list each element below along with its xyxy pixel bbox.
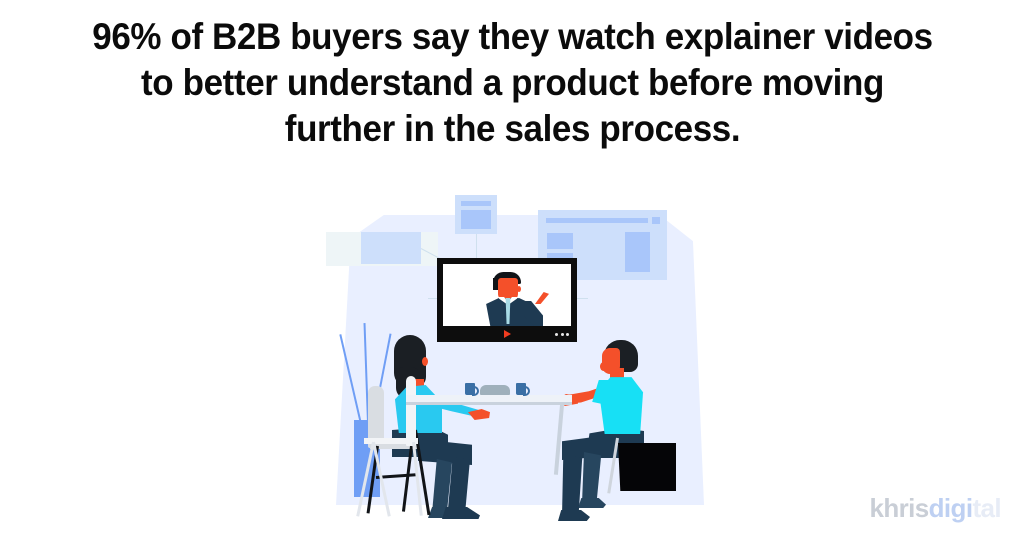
table-edge xyxy=(406,402,572,405)
meeting-table xyxy=(406,395,572,402)
headline-line-3: further in the sales process. xyxy=(28,106,997,152)
logo-part-digi: digi xyxy=(929,493,973,523)
ui-card-blank xyxy=(361,232,421,264)
man-shoe-far xyxy=(578,498,606,508)
card-content-block xyxy=(461,210,491,229)
three-dots-icon[interactable] xyxy=(555,333,569,336)
woman-ear xyxy=(422,357,428,366)
dot xyxy=(555,333,558,336)
connector-line-mid xyxy=(476,234,477,260)
man-ear xyxy=(600,362,607,371)
connector-tick-right xyxy=(576,298,588,299)
man-shoe xyxy=(558,510,590,521)
illustration xyxy=(320,180,720,520)
closed-laptop xyxy=(480,385,510,395)
presenter-hand xyxy=(535,292,549,304)
play-icon[interactable] xyxy=(504,330,511,338)
presenter-ear xyxy=(517,286,521,292)
presenter-face xyxy=(498,278,518,300)
logo-part-tal: tal xyxy=(972,493,1001,523)
card-title-bar xyxy=(461,201,491,206)
ui-card-small xyxy=(455,195,497,234)
browser-block-a xyxy=(547,233,573,249)
chair-back-right xyxy=(406,376,416,446)
dot xyxy=(561,333,564,336)
headline-line-2: to better understand a product before mo… xyxy=(28,60,997,106)
laptop-bag xyxy=(618,443,676,491)
brand-logo[interactable]: khrisdigital xyxy=(869,494,1001,522)
page-title: 96% of B2B buyers say they watch explain… xyxy=(28,14,997,152)
dot xyxy=(566,333,569,336)
browser-address-bar xyxy=(546,218,648,223)
headline-line-1: 96% of B2B buyers say they watch explain… xyxy=(28,14,997,60)
browser-menu-icon xyxy=(652,217,660,224)
poster-canvas: 96% of B2B buyers say they watch explain… xyxy=(0,0,1025,537)
coffee-mug xyxy=(465,383,475,395)
video-screen xyxy=(443,264,571,326)
woman-viewer xyxy=(384,335,494,520)
logo-part-khris: khris xyxy=(869,493,928,523)
woman-shoe xyxy=(442,507,480,519)
man-viewer xyxy=(558,340,678,522)
browser-block-c xyxy=(625,232,650,272)
video-player[interactable] xyxy=(437,258,577,342)
coffee-mug xyxy=(516,383,526,395)
